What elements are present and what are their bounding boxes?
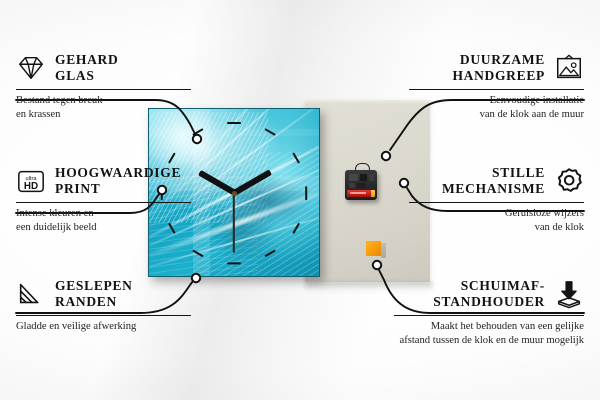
callout-rule	[16, 315, 191, 316]
callout-schuimaf-standhouder: SCHUIMAF- STANDHOUDER Maakt het behouden…	[394, 278, 584, 348]
product-infographic: GEHARD GLAS Bestand tegen breuk en krass…	[0, 0, 600, 400]
clock-second-hand	[233, 193, 235, 253]
hatched-edge-icon	[16, 279, 46, 309]
callout-hoogwaardige-print: ultra HD HOOGWAARDIGE PRINT Intense kleu…	[16, 165, 191, 235]
clock-center-cap	[232, 191, 237, 196]
gear-icon	[554, 166, 584, 196]
callout-gehard-glas: GEHARD GLAS Bestand tegen breuk en krass…	[16, 52, 191, 122]
callout-rule	[16, 89, 191, 90]
callout-title-line1: GESLEPEN	[55, 278, 133, 294]
callout-rule	[409, 202, 584, 203]
callout-rule	[394, 315, 584, 316]
callout-sub-line1: Maakt het behouden van een gelijke	[394, 320, 584, 334]
callout-duurzame-handgreep: DUURZAME HANDGREEP Eenvoudige installati…	[409, 52, 584, 122]
callout-sub-line2: een duidelijk beeld	[16, 221, 191, 235]
callout-sub-line2: en krassen	[16, 108, 191, 122]
callout-sub-line2: van de klok	[409, 221, 584, 235]
foam-spacer	[366, 241, 381, 256]
callout-title-line2: MECHANISME	[442, 181, 545, 197]
callout-sub-line1: Eenvoudige installatie	[409, 94, 584, 108]
callout-geslepen-randen: GESLEPEN RANDEN Gladde en veilige afwerk…	[16, 278, 191, 334]
callout-title-line1: SCHUIMAF-	[433, 278, 545, 294]
callout-rule	[409, 89, 584, 90]
callout-sub-line1: Bestand tegen breuk	[16, 94, 191, 108]
callout-title-line1: HOOGWAARDIGE	[55, 165, 181, 181]
battery-positive-tip	[371, 190, 375, 197]
arrow-down-block-icon	[554, 279, 584, 309]
clock-tick	[305, 186, 307, 200]
ultra-hd-icon: ultra HD	[16, 166, 46, 196]
callout-title-line2: PRINT	[55, 181, 181, 197]
callout-title-line2: RANDEN	[55, 294, 133, 310]
picture-frame-icon	[554, 53, 584, 83]
callout-sub-line1: Geruisloze wijzers	[409, 207, 584, 221]
clock-tick	[227, 262, 241, 264]
callout-rule	[16, 202, 191, 203]
callout-stille-mechanisme: STILLE MECHANISME Geruisloze wijzers van…	[409, 165, 584, 235]
diamond-icon	[16, 53, 46, 83]
callout-sub-line2: van de klok aan de muur	[409, 108, 584, 122]
callout-sub-line2: afstand tussen de klok en de muur mogeli…	[394, 334, 584, 348]
callout-title-line2: STANDHOUDER	[433, 294, 545, 310]
callout-title-line1: STILLE	[442, 165, 545, 181]
ultra-hd-icon-large-text: HD	[24, 181, 38, 192]
callout-title-line2: GLAS	[55, 68, 118, 84]
callout-title-line1: GEHARD	[55, 52, 118, 68]
callout-title-line2: HANDGREEP	[452, 68, 545, 84]
foam-spacer-shadow	[381, 243, 386, 258]
callout-sub-line1: Intense kleuren en	[16, 207, 191, 221]
callout-title-line1: DUURZAME	[452, 52, 545, 68]
callout-sub-line1: Gladde en veilige afwerking	[16, 320, 191, 334]
